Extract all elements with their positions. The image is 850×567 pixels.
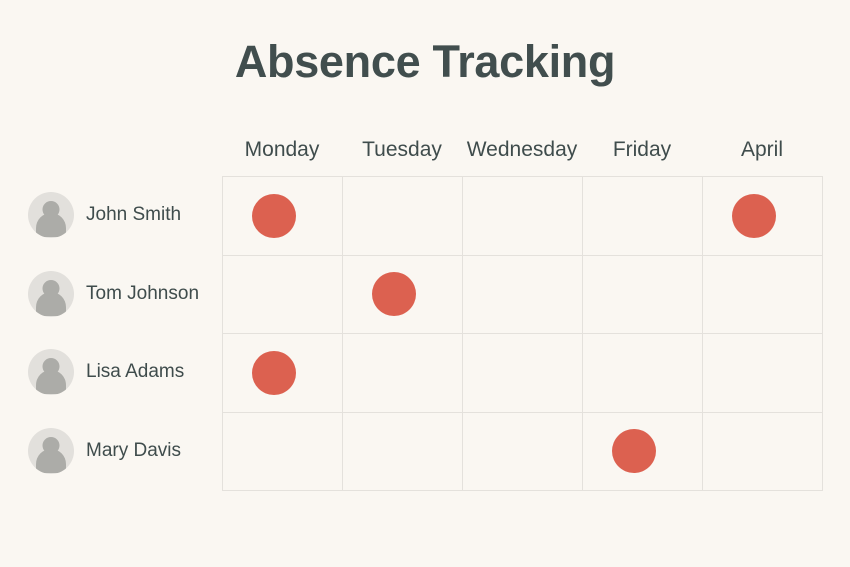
absence-cell[interactable] bbox=[703, 256, 823, 335]
column-header-row: Monday Tuesday Wednesday Friday April bbox=[222, 136, 822, 164]
column-header-friday: Friday bbox=[582, 136, 702, 164]
absence-cell[interactable] bbox=[343, 334, 463, 413]
person-avatar-icon bbox=[28, 192, 74, 238]
avatar-body-shape bbox=[36, 370, 66, 394]
column-header-april: April bbox=[702, 136, 822, 164]
absence-dot-marker bbox=[252, 351, 296, 395]
list-item[interactable]: Tom Johnson bbox=[28, 255, 222, 334]
list-item[interactable]: Mary Davis bbox=[28, 412, 222, 491]
absence-dot-marker bbox=[612, 429, 656, 473]
column-header-tuesday: Tuesday bbox=[342, 136, 462, 164]
column-header-monday: Monday bbox=[222, 136, 342, 164]
absence-cell[interactable] bbox=[463, 334, 583, 413]
person-name-label: Mary Davis bbox=[86, 440, 181, 462]
absence-cell[interactable] bbox=[703, 334, 823, 413]
avatar-body-shape bbox=[36, 449, 66, 473]
row-label-column: John Smith Tom Johnson Lisa Adams Mary D… bbox=[28, 176, 222, 490]
absence-dot-marker bbox=[732, 194, 776, 238]
absence-cell[interactable] bbox=[343, 177, 463, 256]
absence-cell[interactable] bbox=[343, 256, 463, 335]
person-name-label: John Smith bbox=[86, 204, 181, 226]
person-avatar-icon bbox=[28, 271, 74, 317]
person-avatar-icon bbox=[28, 349, 74, 395]
avatar-body-shape bbox=[36, 213, 66, 237]
table-row bbox=[223, 177, 823, 256]
absence-cell[interactable] bbox=[223, 256, 343, 335]
list-item[interactable]: John Smith bbox=[28, 176, 222, 255]
absence-cell[interactable] bbox=[703, 177, 823, 256]
person-name-label: Lisa Adams bbox=[86, 361, 184, 383]
absence-cell[interactable] bbox=[223, 334, 343, 413]
absence-cell[interactable] bbox=[583, 177, 703, 256]
avatar-body-shape bbox=[36, 292, 66, 316]
absence-cell[interactable] bbox=[223, 177, 343, 256]
table-row bbox=[223, 334, 823, 413]
absence-cell[interactable] bbox=[583, 256, 703, 335]
absence-dot-marker bbox=[252, 194, 296, 238]
column-header-wednesday: Wednesday bbox=[462, 136, 582, 164]
absence-cell[interactable] bbox=[343, 413, 463, 492]
absence-cell[interactable] bbox=[583, 413, 703, 492]
absence-grid bbox=[222, 176, 823, 491]
absence-dot-marker bbox=[372, 272, 416, 316]
person-avatar-icon bbox=[28, 428, 74, 474]
absence-cell[interactable] bbox=[463, 177, 583, 256]
absence-cell[interactable] bbox=[583, 334, 703, 413]
list-item[interactable]: Lisa Adams bbox=[28, 333, 222, 412]
page-title: Absence Tracking bbox=[0, 37, 850, 87]
table-row bbox=[223, 256, 823, 335]
table-row bbox=[223, 413, 823, 492]
absence-cell[interactable] bbox=[463, 413, 583, 492]
absence-cell[interactable] bbox=[703, 413, 823, 492]
absence-cell[interactable] bbox=[223, 413, 343, 492]
person-name-label: Tom Johnson bbox=[86, 283, 199, 305]
absence-cell[interactable] bbox=[463, 256, 583, 335]
